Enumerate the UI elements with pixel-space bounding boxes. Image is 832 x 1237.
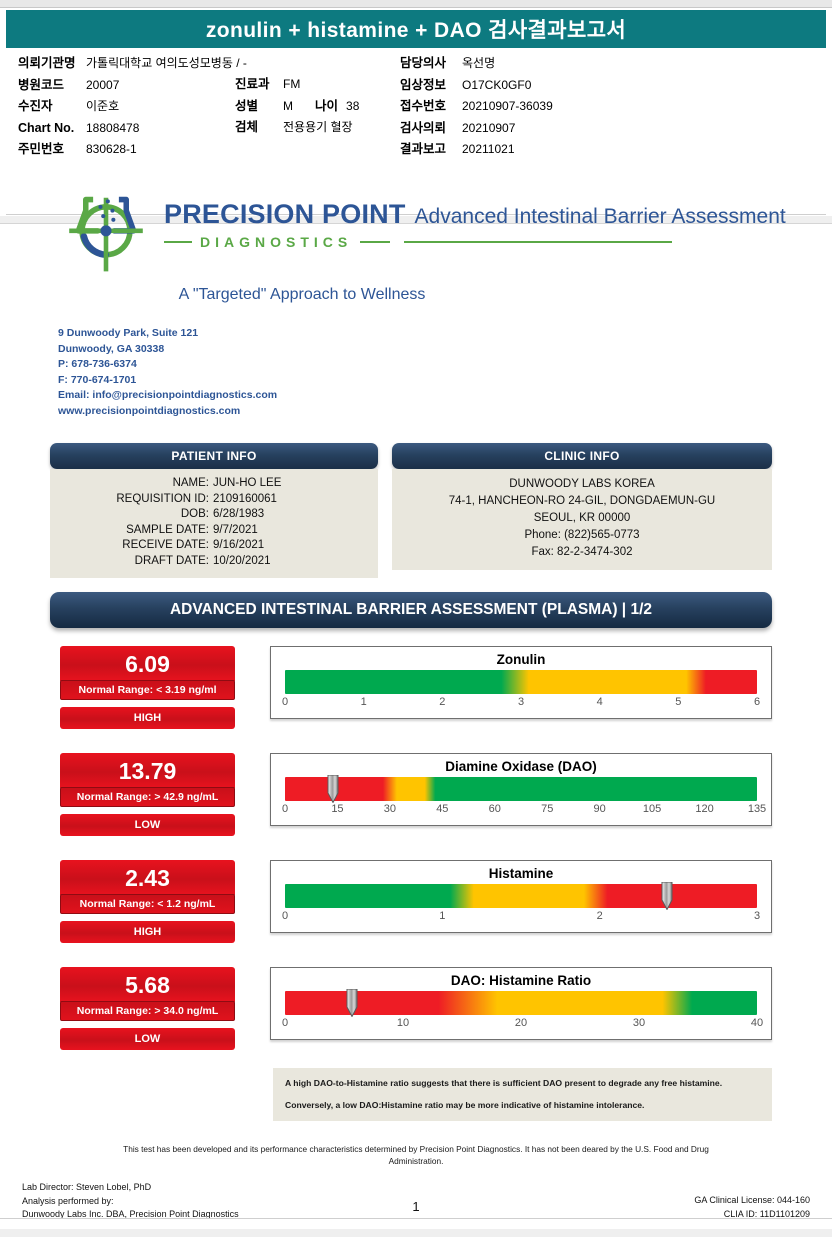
- row-label: SAMPLE DATE:: [75, 523, 213, 539]
- field-label: 진료과: [235, 77, 283, 92]
- field-label-age: 나이: [315, 99, 338, 114]
- gauge-column: DAO: Histamine Ratio 010203040: [270, 967, 772, 1040]
- field-row: 결과보고 20211021: [400, 142, 730, 157]
- row-label: REQUISITION ID:: [75, 492, 213, 508]
- axis-tick-label: 3: [754, 910, 760, 922]
- field-label: Chart No.: [18, 121, 86, 136]
- letterhead: PRECISION POINT Advanced Intestinal Barr…: [0, 163, 832, 419]
- address-line: 9 Dunwoody Park, Suite 121: [58, 326, 832, 342]
- analyte-name: Histamine: [285, 866, 757, 881]
- field-label: 수진자: [18, 99, 86, 114]
- status-badge: LOW: [60, 1028, 235, 1050]
- result-value: 13.79: [60, 753, 235, 788]
- brand-name: PRECISION POINT: [164, 199, 406, 230]
- axis-tick-label: 60: [489, 803, 501, 815]
- gauge-color-bar: [285, 777, 757, 801]
- axis-tick-label: 90: [594, 803, 606, 815]
- field-row: 접수번호 20210907-36039: [400, 99, 730, 114]
- field-value: 20007: [86, 78, 119, 93]
- field-row: 임상정보 O17CK0GF0: [400, 78, 730, 93]
- field-row: 주민번호 830628-1: [18, 142, 248, 157]
- result-value: 5.68: [60, 967, 235, 1002]
- analyte-result-row: 13.79 Normal Range: > 42.9 ng/mL LOW Dia…: [50, 753, 772, 836]
- field-value: 20210907: [462, 121, 515, 136]
- row-value: 10/20/2021: [213, 554, 353, 570]
- analyte-results-list: 6.09 Normal Range: < 3.19 ng/ml HIGH Zon…: [0, 646, 832, 1050]
- gauge-bar-holder: [285, 991, 757, 1015]
- field-value: FM: [283, 77, 300, 92]
- axis-tick-label: 75: [541, 803, 553, 815]
- result-value: 2.43: [60, 860, 235, 895]
- gauge-axis: 010203040: [285, 1017, 757, 1035]
- axis-tick-label: 6: [754, 696, 760, 708]
- gauge-axis: 0123: [285, 910, 757, 928]
- result-summary-card: 2.43 Normal Range: < 1.2 ng/mL HIGH: [50, 860, 235, 943]
- page-footer: Lab Director: Steven Lobel, PhD Analysis…: [0, 1175, 832, 1237]
- normal-range-label: Normal Range: < 3.19 ng/ml: [60, 680, 235, 700]
- emr-column-3: 담당의사 옥선명 임상정보 O17CK0GF0 접수번호 20210907-36…: [400, 56, 730, 164]
- row-label: DOB:: [75, 507, 213, 523]
- row-value: 9/7/2021: [213, 523, 353, 539]
- field-label: 접수번호: [400, 99, 462, 114]
- result-summary-card: 6.09 Normal Range: < 3.19 ng/ml HIGH: [50, 646, 235, 729]
- field-label: 검체: [235, 120, 283, 135]
- brand-subtitle: DIAGNOSTICS: [200, 234, 352, 250]
- report-title: zonulin + histamine + DAO 검사결과보고서: [206, 14, 626, 44]
- field-row: 의뢰기관명 가톨릭대학교 여의도성모병동 / -: [18, 56, 248, 71]
- gauge-box: Histamine 0123: [270, 860, 772, 933]
- gauge-color-bar: [285, 884, 757, 908]
- lab-report-page: zonulin + histamine + DAO 검사결과보고서 의뢰기관명 …: [0, 0, 832, 1237]
- patient-info-row: NAME: JUN-HO LEE: [60, 476, 368, 492]
- axis-tick-label: 1: [361, 696, 367, 708]
- axis-tick-label: 135: [748, 803, 766, 815]
- patient-info-row: DOB: 6/28/1983: [60, 507, 368, 523]
- emr-column-1: 의뢰기관명 가톨릭대학교 여의도성모병동 / - 병원코드 20007 수진자 …: [18, 56, 248, 164]
- clinic-info-panel: CLINIC INFO DUNWOODY LABS KOREA 74-1, HA…: [392, 443, 772, 578]
- gauge-column: Histamine 0123: [270, 860, 772, 933]
- analyte-result-row: 5.68 Normal Range: > 34.0 ng/mL LOW DAO:…: [50, 967, 772, 1050]
- info-panels: PATIENT INFO NAME: JUN-HO LEE REQUISITIO…: [50, 443, 772, 578]
- field-value: 830628-1: [86, 142, 137, 157]
- clinic-info-heading: CLINIC INFO: [392, 443, 772, 469]
- field-label: 결과보고: [400, 142, 462, 157]
- website-line[interactable]: www.precisionpointdiagnostics.com: [58, 404, 832, 420]
- clinical-license: GA Clinical License: 044-160: [694, 1194, 810, 1208]
- note-paragraph-2: Conversely, a low DAO:Histamine ratio ma…: [285, 1099, 760, 1112]
- field-value-age: 38: [346, 99, 359, 114]
- field-label: 주민번호: [18, 142, 86, 157]
- axis-tick-label: 120: [695, 803, 713, 815]
- normal-range-label: Normal Range: > 34.0 ng/mL: [60, 1001, 235, 1021]
- field-value: O17CK0GF0: [462, 78, 531, 93]
- field-row: 검사의뢰 20210907: [400, 121, 730, 136]
- field-label: 의뢰기관명: [18, 56, 86, 71]
- row-value: JUN-HO LEE: [213, 476, 353, 492]
- axis-tick-label: 30: [633, 1017, 645, 1029]
- patient-info-body: NAME: JUN-HO LEE REQUISITION ID: 2109160…: [50, 469, 378, 578]
- lab-address-block: 9 Dunwoody Park, Suite 121 Dunwoody, GA …: [58, 326, 832, 419]
- field-value: 20210907-36039: [462, 99, 553, 114]
- clinic-info-body: DUNWOODY LABS KOREA 74-1, HANCHEON-RO 24…: [392, 469, 772, 570]
- row-label: NAME:: [75, 476, 213, 492]
- value-marker-icon: [346, 989, 359, 1017]
- field-value: 이준호: [86, 99, 119, 114]
- patient-info-row: RECEIVE DATE: 9/16/2021: [60, 538, 368, 554]
- field-label: 성별: [235, 99, 283, 114]
- gauge-box: Zonulin 0123456: [270, 646, 772, 719]
- axis-tick-label: 2: [439, 696, 445, 708]
- field-label: 검사의뢰: [400, 121, 462, 136]
- field-value: 전용용기 혈장: [283, 120, 353, 135]
- clinic-line: SEOUL, KR 00000: [402, 510, 762, 527]
- axis-tick-label: 4: [597, 696, 603, 708]
- footer-right-block: GA Clinical License: 044-160 CLIA ID: 11…: [694, 1194, 810, 1221]
- field-value: 가톨릭대학교 여의도성모병동 / -: [86, 56, 247, 71]
- phone-line: P: 678-736-6374: [58, 357, 832, 373]
- row-value: 2109160061: [213, 492, 353, 508]
- gauge-column: Diamine Oxidase (DAO) 015304560759010512…: [270, 753, 772, 826]
- axis-tick-label: 10: [397, 1017, 409, 1029]
- axis-tick-label: 1: [439, 910, 445, 922]
- normal-range-label: Normal Range: < 1.2 ng/mL: [60, 894, 235, 914]
- axis-tick-label: 45: [436, 803, 448, 815]
- footer-divider: [0, 1218, 832, 1219]
- row-label: DRAFT DATE:: [75, 554, 213, 570]
- field-label: 병원코드: [18, 78, 86, 93]
- field-row: Chart No. 18808478: [18, 121, 248, 136]
- patient-info-heading: PATIENT INFO: [50, 443, 378, 469]
- status-badge: HIGH: [60, 921, 235, 943]
- fax-line: F: 770-674-1701: [58, 373, 832, 389]
- axis-tick-label: 105: [643, 803, 661, 815]
- result-summary-card: 13.79 Normal Range: > 42.9 ng/mL LOW: [50, 753, 235, 836]
- patient-info-row: DRAFT DATE: 10/20/2021: [60, 554, 368, 570]
- axis-tick-label: 30: [384, 803, 396, 815]
- report-title-bar: zonulin + histamine + DAO 검사결과보고서: [6, 10, 826, 48]
- clinic-line: DUNWOODY LABS KOREA: [402, 476, 762, 493]
- field-row: 진료과 FM: [235, 77, 415, 92]
- field-row: 담당의사 옥선명: [400, 56, 730, 71]
- analyte-result-row: 2.43 Normal Range: < 1.2 ng/mL HIGH Hist…: [50, 860, 772, 943]
- section-banner: ADVANCED INTESTINAL BARRIER ASSESSMENT (…: [50, 592, 772, 628]
- address-line: Dunwoody, GA 30338: [58, 342, 832, 358]
- fda-disclaimer: This test has been developed and its per…: [116, 1143, 716, 1167]
- status-badge: LOW: [60, 814, 235, 836]
- clinic-fax: Fax: 82-2-3474-302: [402, 544, 762, 561]
- precision-point-logo-icon: [58, 183, 154, 275]
- lab-director: Lab Director: Steven Lobel, PhD: [22, 1181, 239, 1195]
- axis-tick-label: 3: [518, 696, 524, 708]
- analyte-result-row: 6.09 Normal Range: < 3.19 ng/ml HIGH Zon…: [50, 646, 772, 729]
- gauge-bar-holder: [285, 670, 757, 694]
- window-top-strip: [0, 0, 832, 8]
- ratio-interpretation-note: A high DAO-to-Histamine ratio suggests t…: [273, 1068, 772, 1121]
- note-paragraph-1: A high DAO-to-Histamine ratio suggests t…: [285, 1077, 760, 1090]
- clinic-line: 74-1, HANCHEON-RO 24-GIL, DONGDAEMUN-GU: [402, 493, 762, 510]
- emr-patient-header: 의뢰기관명 가톨릭대학교 여의도성모병동 / - 병원코드 20007 수진자 …: [0, 48, 832, 163]
- axis-tick-label: 0: [282, 1017, 288, 1029]
- field-row: 검체 전용용기 혈장: [235, 120, 415, 135]
- field-row: 병원코드 20007: [18, 78, 248, 93]
- patient-info-panel: PATIENT INFO NAME: JUN-HO LEE REQUISITIO…: [50, 443, 378, 578]
- patient-info-row: SAMPLE DATE: 9/7/2021: [60, 523, 368, 539]
- brand-wellness-tagline: A "Targeted" Approach to Wellness: [52, 286, 552, 304]
- row-value: 6/28/1983: [213, 507, 353, 523]
- patient-info-row: REQUISITION ID: 2109160061: [60, 492, 368, 508]
- normal-range-label: Normal Range: > 42.9 ng/mL: [60, 787, 235, 807]
- status-badge: HIGH: [60, 707, 235, 729]
- gauge-axis: 0153045607590105120135: [285, 803, 757, 821]
- field-value: 18808478: [86, 121, 139, 136]
- rule-right: [360, 241, 390, 243]
- field-value: M: [283, 99, 293, 114]
- axis-tick-label: 40: [751, 1017, 763, 1029]
- row-label: RECEIVE DATE:: [75, 538, 213, 554]
- result-value: 6.09: [60, 646, 235, 681]
- field-label: 담당의사: [400, 56, 462, 71]
- gauge-column: Zonulin 0123456: [270, 646, 772, 719]
- field-row-gender-age: 성별 M 나이 38: [235, 99, 415, 114]
- axis-tick-label: 20: [515, 1017, 527, 1029]
- gauge-bar-holder: [285, 777, 757, 801]
- field-value: 옥선명: [462, 56, 495, 71]
- value-marker-icon: [661, 882, 674, 910]
- footer-grey-band: [0, 1229, 832, 1237]
- axis-tick-label: 0: [282, 803, 288, 815]
- axis-tick-label: 5: [675, 696, 681, 708]
- analyte-name: Zonulin: [285, 652, 757, 667]
- field-row: 수진자 이준호: [18, 99, 248, 114]
- gauge-bar-holder: [285, 884, 757, 908]
- axis-tick-label: 0: [282, 910, 288, 922]
- emr-column-2: 진료과 FM 성별 M 나이 38 검체 전용용기 혈장: [235, 77, 415, 142]
- gauge-color-bar: [285, 670, 757, 694]
- axis-tick-label: 2: [597, 910, 603, 922]
- brand-tagline: Advanced Intestinal Barrier Assessment: [415, 205, 786, 229]
- analyte-name: Diamine Oxidase (DAO): [285, 759, 757, 774]
- rule-far: [404, 241, 672, 243]
- gauge-box: Diamine Oxidase (DAO) 015304560759010512…: [270, 753, 772, 826]
- analyte-name: DAO: Histamine Ratio: [285, 973, 757, 988]
- gauge-box: DAO: Histamine Ratio 010203040: [270, 967, 772, 1040]
- rule-left: [164, 241, 192, 243]
- clinic-phone: Phone: (822)565-0773: [402, 527, 762, 544]
- gauge-axis: 0123456: [285, 696, 757, 714]
- row-value: 9/16/2021: [213, 538, 353, 554]
- value-marker-icon: [327, 775, 340, 803]
- axis-tick-label: 15: [331, 803, 343, 815]
- axis-tick-label: 0: [282, 696, 288, 708]
- email-line[interactable]: Email: info@precisionpointdiagnostics.co…: [58, 388, 832, 404]
- field-value: 20211021: [462, 142, 515, 157]
- field-label: 임상정보: [400, 78, 462, 93]
- result-summary-card: 5.68 Normal Range: > 34.0 ng/mL LOW: [50, 967, 235, 1050]
